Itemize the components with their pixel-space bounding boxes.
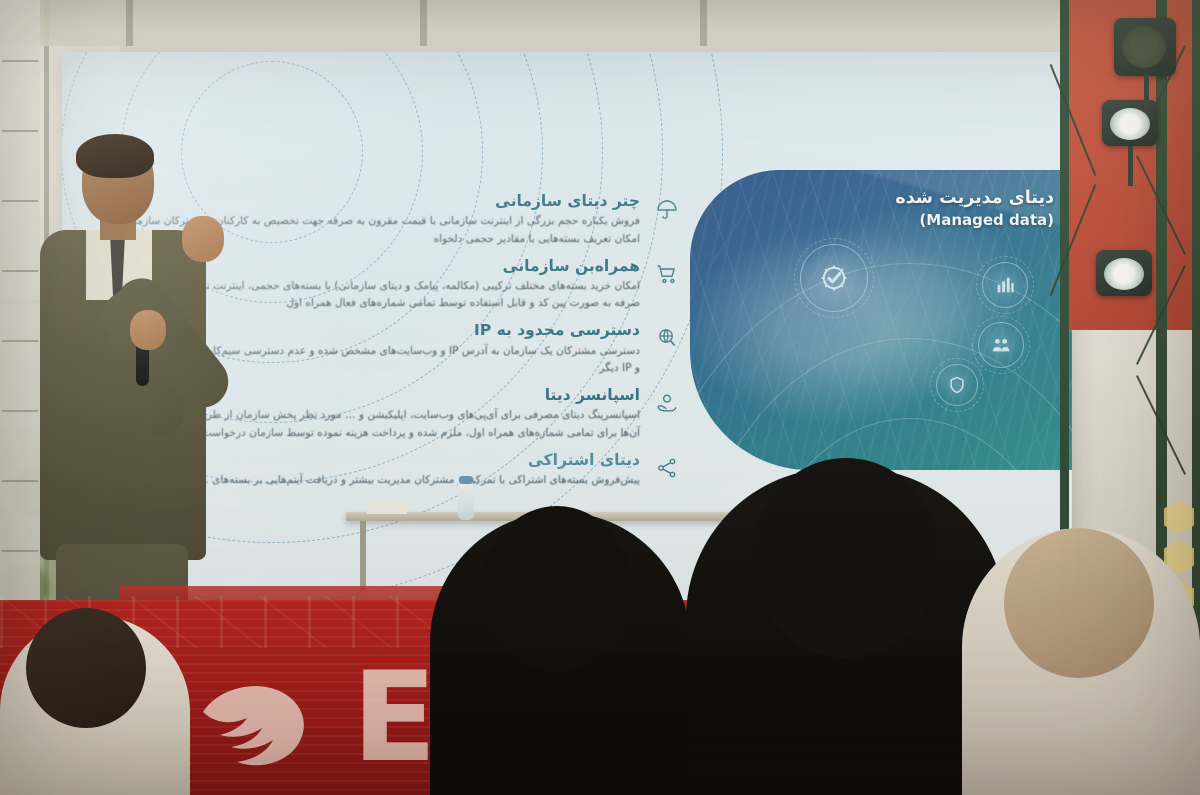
spotlight [1096, 250, 1152, 296]
moving-head-light [1114, 18, 1176, 76]
water-bottle [458, 482, 474, 520]
spotlight [1102, 100, 1158, 146]
light-stem [1128, 146, 1133, 186]
presenter [26, 138, 216, 608]
share-nodes-icon [652, 453, 682, 483]
light-stem [1144, 74, 1149, 100]
ceiling [0, 0, 1200, 46]
panel-title-fa: دیتای مدیریت شده [895, 188, 1054, 208]
people-group-icon [978, 322, 1024, 368]
presenter-hair [76, 134, 154, 178]
truss-column [1192, 0, 1200, 640]
panel-title-en: (Managed data) [895, 211, 1054, 229]
audience-silhouette [430, 512, 690, 795]
audience-head [0, 616, 190, 795]
audience-head [962, 528, 1200, 795]
panel-title-block: دیتای مدیریت شده (Managed data) [895, 188, 1054, 229]
ceiling-beam [126, 0, 133, 46]
hand-coin-icon [652, 388, 682, 418]
managed-data-panel: دیتای مدیریت شده (Managed data) [690, 170, 1072, 470]
bar-chart-icon [982, 262, 1028, 308]
bottle-cap [459, 476, 473, 484]
ceiling-beam [420, 0, 427, 46]
globe-search-icon [652, 323, 682, 353]
paper-on-table [367, 502, 409, 514]
backdrop-letter: E [352, 666, 437, 770]
shopping-cart-icon [652, 259, 682, 289]
audience-silhouette [686, 468, 1006, 795]
shield-icon [936, 364, 978, 406]
presenter-hand [182, 216, 224, 262]
ceiling-beam [700, 0, 707, 46]
umbrella-icon [652, 194, 682, 224]
hex-light-panel [1164, 500, 1194, 534]
presenter-hand [130, 310, 166, 350]
conference-photo-scene: دیتای مدیریت شده (Managed data) [0, 0, 1200, 795]
gear-check-icon [800, 244, 868, 312]
mci-bird-logo [195, 672, 321, 776]
table-leg [360, 521, 366, 591]
